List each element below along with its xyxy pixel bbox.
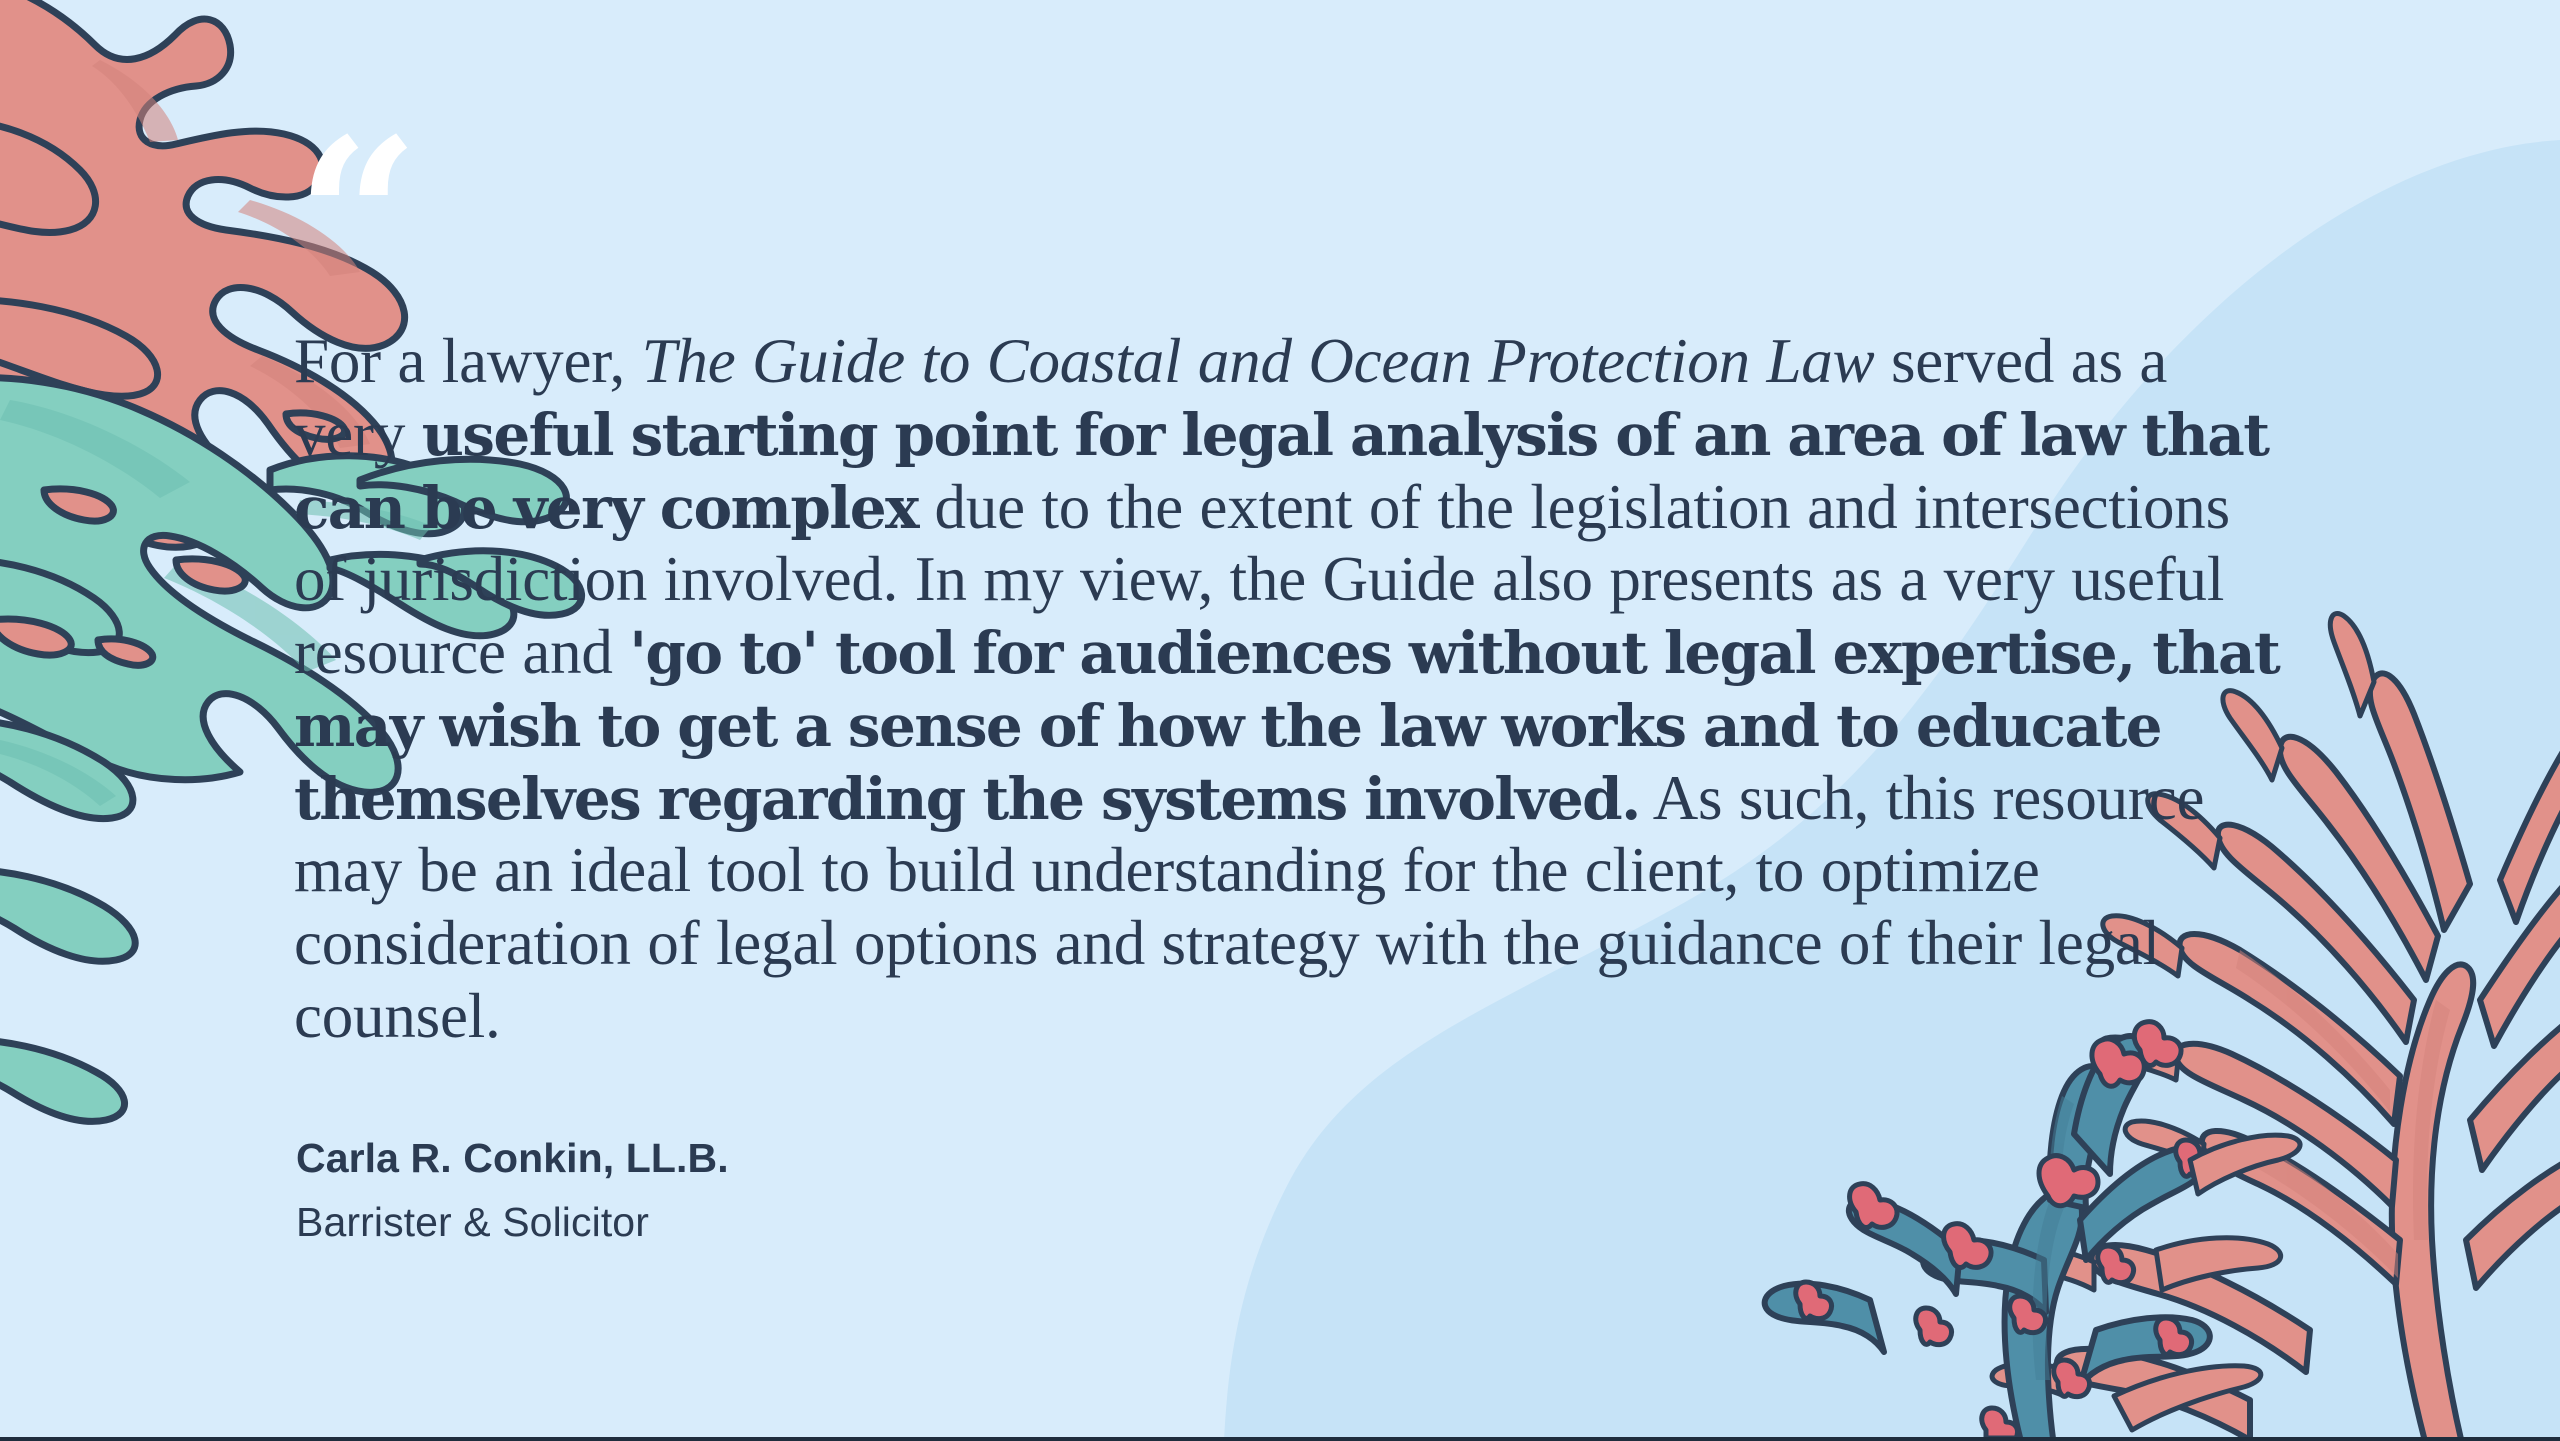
opening-quote-icon: “ — [296, 110, 414, 325]
testimonial-card: “ For a lawyer, The Guide to Coastal and… — [0, 0, 2560, 1441]
attribution: Carla R. Conkin, LL.B. Barrister & Solic… — [296, 1130, 729, 1252]
attribution-name: Carla R. Conkin, LL.B. — [296, 1130, 729, 1187]
quote-segment-booktitle: The Guide to Coastal and Ocean Protectio… — [642, 326, 1875, 396]
quote-segment-intro: For a lawyer, — [294, 326, 642, 396]
attribution-role: Barrister & Solicitor — [296, 1193, 729, 1252]
quote-block: For a lawyer, The Guide to Coastal and O… — [294, 325, 2284, 1053]
quote-text: For a lawyer, The Guide to Coastal and O… — [294, 325, 2284, 1053]
bottom-rule — [0, 1437, 2560, 1441]
